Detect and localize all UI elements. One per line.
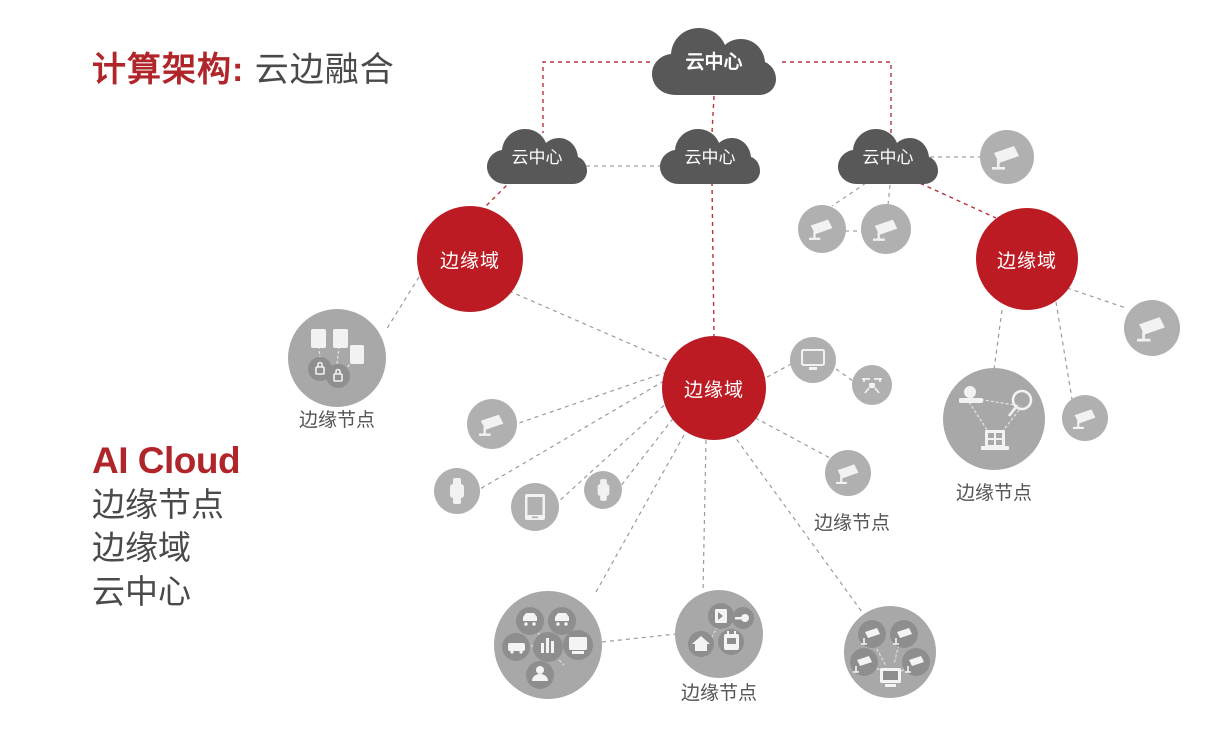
camera-icon	[477, 411, 508, 438]
tablet-node-center[interactable]	[511, 483, 559, 531]
camera-node-center-low[interactable]	[825, 450, 871, 496]
watch-icon	[448, 477, 466, 505]
camera-icon	[1071, 406, 1100, 431]
edge-node-cluster-left[interactable]	[288, 309, 386, 407]
caption-edge-node-center-low: 边缘节点	[814, 508, 890, 535]
cloud-center-middle[interactable]: 云中心	[658, 127, 762, 187]
cluster-contents	[288, 309, 386, 407]
monitor-icon	[800, 348, 826, 372]
camera-icon	[990, 142, 1024, 172]
edge-node-cluster-right[interactable]	[943, 368, 1045, 470]
cloud-label: 云中心	[512, 149, 563, 166]
edge-domain-label: 边缘域	[684, 375, 744, 402]
watch-node-left[interactable]	[434, 468, 480, 514]
cloud-label: 云中心	[863, 149, 914, 166]
legend-item-edge-node: 边缘节点	[92, 483, 240, 527]
legend-item-edge-domain: 边缘域	[92, 526, 240, 570]
caption-edge-node-cluster-left: 边缘节点	[299, 405, 375, 432]
cluster-contents	[844, 606, 936, 698]
camera-node-top-right-1[interactable]	[980, 130, 1034, 184]
legend-brand: AI Cloud	[92, 440, 240, 483]
edge-node-cluster-bottom-left[interactable]	[494, 591, 602, 699]
cloud-center-right[interactable]: 云中心	[836, 127, 940, 187]
edge-domain-left[interactable]: 边缘域	[417, 206, 523, 312]
monitor-node-center[interactable]	[790, 337, 836, 383]
caption-edge-node-cluster-right: 边缘节点	[956, 478, 1032, 505]
camera-node-right-1[interactable]	[1124, 300, 1180, 356]
caption-edge-node-cluster-bottom-mid: 边缘节点	[681, 678, 757, 705]
camera-icon	[807, 216, 837, 242]
camera-node-top-right-3[interactable]	[861, 204, 911, 254]
tablet-icon	[524, 493, 546, 521]
camera-node-left[interactable]	[467, 399, 517, 449]
cloud-label: 云中心	[685, 149, 736, 166]
watch-icon	[596, 478, 611, 502]
cluster-contents	[675, 590, 763, 678]
camera-icon	[1135, 313, 1170, 344]
edge-domain-label: 边缘域	[997, 246, 1057, 273]
cloud-center-root[interactable]: 云中心	[650, 25, 778, 99]
edge-node-cluster-bottom-right[interactable]	[844, 606, 936, 698]
edge-domain-center[interactable]: 边缘域	[662, 336, 766, 440]
camera-node-top-right-2[interactable]	[798, 205, 846, 253]
cluster-contents	[494, 591, 602, 699]
edge-domain-right[interactable]: 边缘域	[976, 208, 1078, 310]
watch-node-center[interactable]	[584, 471, 622, 509]
edge-domain-label: 边缘域	[440, 246, 500, 273]
cloud-center-left[interactable]: 云中心	[485, 127, 589, 187]
page-title: 计算架构: 云边融合	[92, 42, 395, 91]
cluster-contents	[943, 368, 1045, 470]
cloud-label: 云中心	[685, 53, 742, 72]
camera-icon	[834, 461, 863, 486]
legend: AI Cloud 边缘节点 边缘域 云中心	[92, 440, 240, 613]
diagram-canvas: 计算架构: 云边融合 AI Cloud 边缘节点 边缘域 云中心 云中心 云中心…	[0, 0, 1207, 737]
camera-node-right-2[interactable]	[1062, 395, 1108, 441]
title-red: 计算架构:	[92, 51, 244, 89]
camera-icon	[871, 216, 902, 243]
drone-node-center[interactable]	[852, 365, 892, 405]
edge-node-cluster-bottom-mid[interactable]	[675, 590, 763, 678]
title-gray: 云边融合	[255, 51, 395, 89]
legend-item-cloud-center: 云中心	[92, 570, 240, 614]
drone-icon	[860, 375, 884, 395]
